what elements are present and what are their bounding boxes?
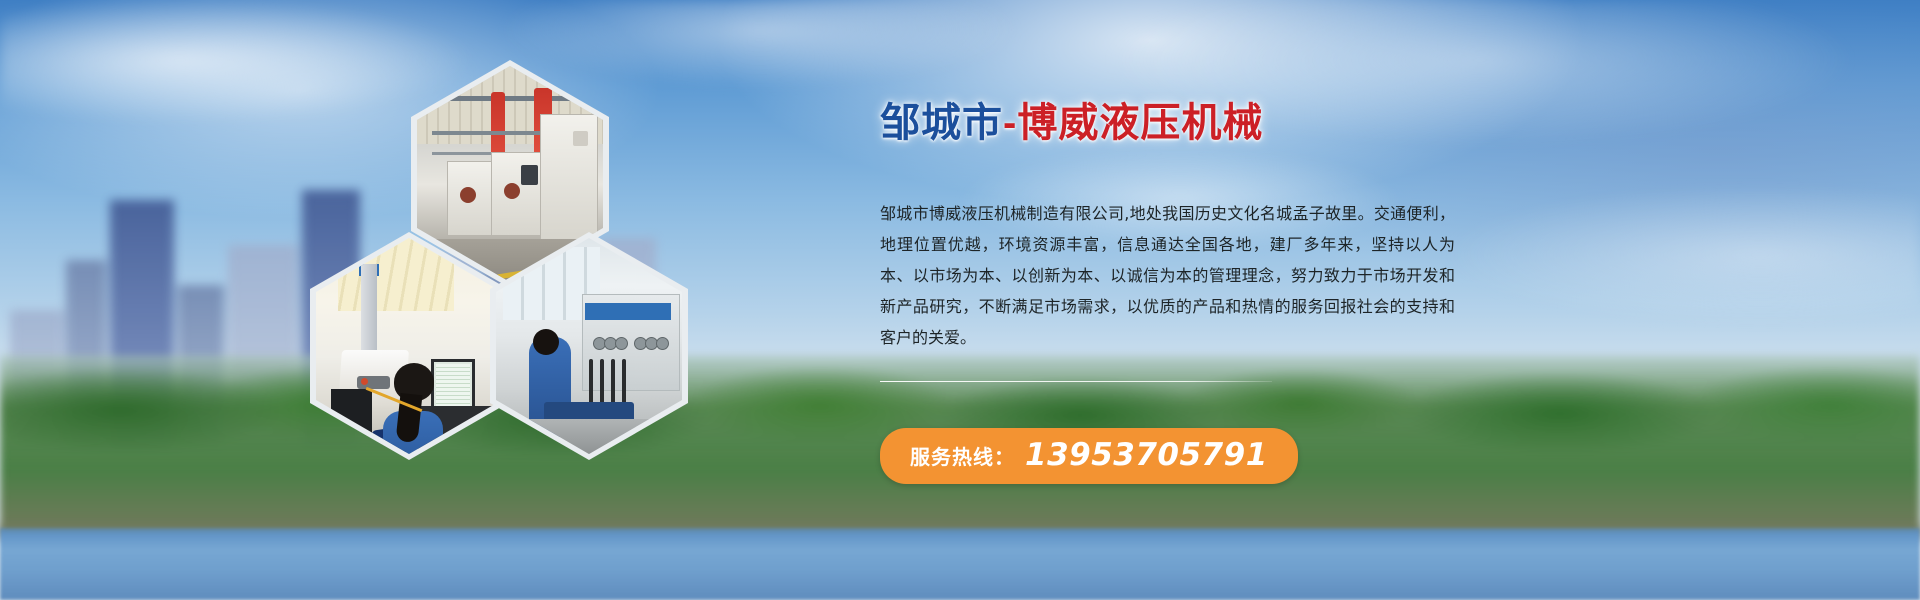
- hydraulic-test-bench-image: [496, 238, 682, 454]
- headline-city-part: 邹城市: [880, 101, 1003, 145]
- background-river-water: [0, 528, 1920, 600]
- photo-hexagon-inner: [316, 238, 502, 454]
- hotline-label: 服务热线：: [910, 441, 1015, 470]
- hexagon-photo-cluster: [310, 60, 710, 440]
- section-divider: [880, 381, 1272, 382]
- laboratory-operator-image: [316, 238, 502, 454]
- banner-text-panel: 邹城市-博威液压机械 邹城市博威液压机械制造有限公司,地处我国历史文化名城孟子故…: [880, 100, 1500, 484]
- headline-brand-part: -博威液压机械: [1003, 101, 1263, 145]
- service-hotline-button[interactable]: 服务热线： 13953705791: [880, 428, 1298, 484]
- company-intro-paragraph: 邹城市博威液压机械制造有限公司,地处我国历史文化名城孟子故里。交通便利，地理位置…: [880, 198, 1455, 353]
- company-headline: 邹城市-博威液压机械: [880, 100, 1500, 146]
- hotline-number: 13953705791: [1025, 437, 1268, 473]
- company-hero-banner: 邹城市-博威液压机械 邹城市博威液压机械制造有限公司,地处我国历史文化名城孟子故…: [0, 0, 1920, 600]
- photo-hexagon-inner: [496, 238, 682, 454]
